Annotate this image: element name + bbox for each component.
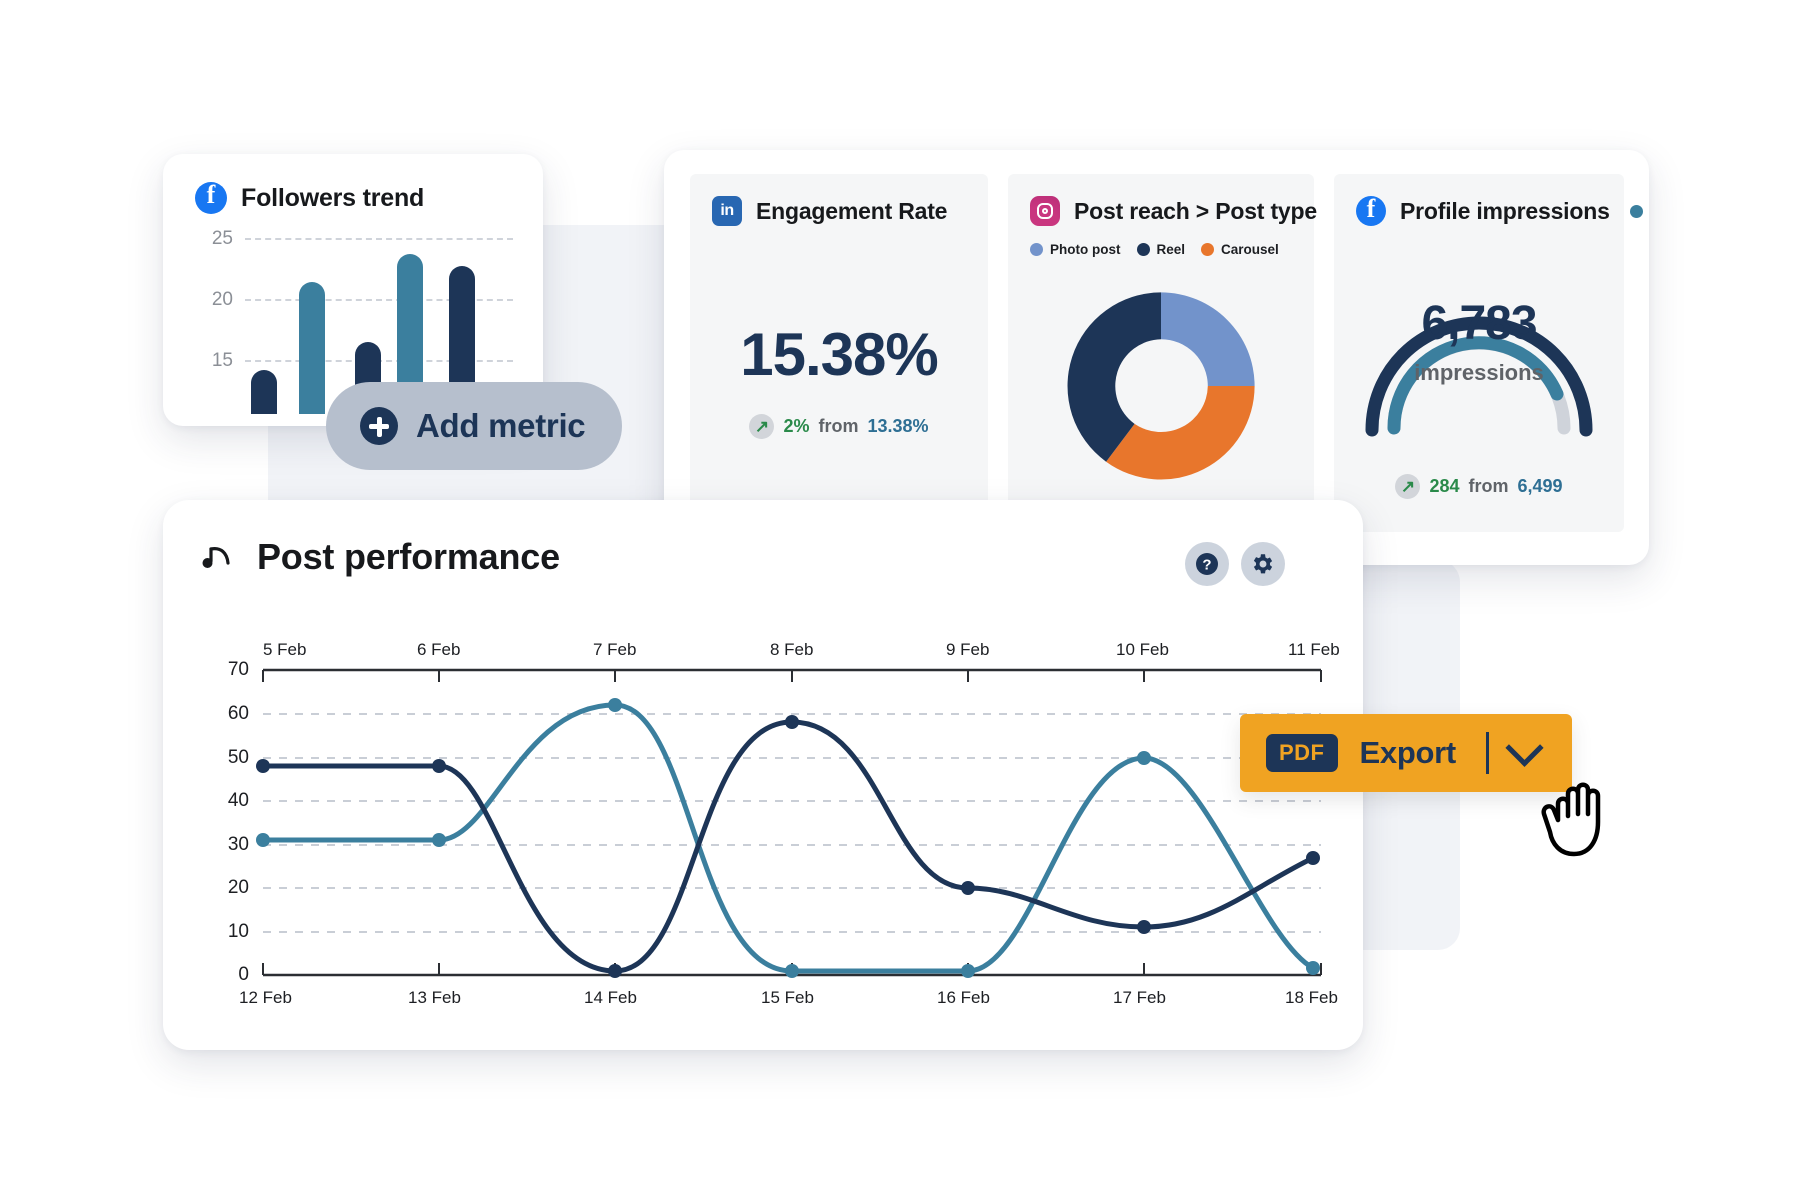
add-metric-label: Add metric (416, 407, 585, 445)
legend-label: Carousel (1221, 242, 1279, 257)
instagram-icon (1030, 196, 1060, 226)
followers-ytick-20: 20 (212, 289, 233, 311)
x-tick-bottom: 12 Feb (239, 988, 292, 1008)
x-tick-top: 5 Feb (263, 640, 306, 660)
x-tick-bottom: 16 Feb (937, 988, 990, 1008)
x-tick-bottom: 18 Feb (1285, 988, 1338, 1008)
legend-item: Photo post (1030, 242, 1121, 257)
line-chart-svg (191, 610, 1336, 1030)
settings-button[interactable] (1241, 542, 1285, 586)
impressions-delta-from: from (1469, 476, 1509, 497)
post-reach-tile: Post reach > Post type Photo post Reel C… (1008, 174, 1314, 532)
legend-label: Reel (1157, 242, 1186, 257)
followers-card-title: Followers trend (241, 184, 424, 213)
post-reach-title: Post reach > Post type (1074, 198, 1317, 225)
svg-text:?: ? (1202, 557, 1211, 574)
y-tick: 20 (191, 877, 249, 899)
profile-impressions-tile: Profile impressions 6,783 impressions 28… (1334, 174, 1624, 532)
engagement-title: Engagement Rate (756, 198, 947, 225)
post-performance-card: Post performance ? (163, 500, 1363, 1050)
note-icon (199, 539, 235, 575)
legend-item: Reel (1137, 242, 1186, 257)
gridline (245, 238, 513, 240)
x-tick-bottom: 14 Feb (584, 988, 637, 1008)
facebook-icon (1356, 196, 1386, 226)
engagement-value: 15.38% (690, 320, 988, 389)
y-tick: 60 (191, 703, 249, 725)
bar (299, 282, 325, 414)
post-performance-title: Post performance (257, 536, 560, 578)
followers-ytick-25: 25 (212, 228, 233, 250)
y-tick: 30 (191, 834, 249, 856)
export-button[interactable]: PDF Export (1240, 714, 1572, 792)
impressions-header: Profile impressions (1356, 196, 1643, 226)
post-reach-legend: Photo post Reel Carousel (1030, 242, 1279, 257)
engagement-delta: 2% from 13.38% (690, 414, 988, 439)
post-performance-header: Post performance (199, 536, 560, 578)
x-tick-top: 9 Feb (946, 640, 989, 660)
dashboard-stage: Followers trend 25 20 15 Add metric (0, 0, 1800, 1200)
y-tick: 40 (191, 790, 249, 812)
x-tick-top: 6 Feb (417, 640, 460, 660)
legend-swatch (1201, 243, 1214, 256)
followers-y-axis: 25 20 15 (193, 238, 233, 414)
followers-card-header: Followers trend (195, 182, 424, 214)
impressions-gauge-chart (1354, 252, 1604, 452)
y-tick: 0 (191, 964, 249, 986)
legend-swatch (1137, 243, 1150, 256)
y-tick: 50 (191, 747, 249, 769)
x-tick-top: 8 Feb (770, 640, 813, 660)
engagement-delta-from: from (818, 416, 858, 437)
impressions-unit: impressions (1334, 360, 1624, 386)
impressions-title: Profile impressions (1400, 198, 1610, 225)
bar (251, 370, 277, 414)
impressions-delta: 284 from 6,499 (1334, 474, 1624, 499)
x-tick-top: 11 Feb (1288, 640, 1340, 660)
trend-up-icon (749, 414, 774, 439)
legend-label: Photo post (1050, 242, 1121, 257)
post-reach-header: Post reach > Post type (1030, 196, 1317, 226)
post-reach-donut-chart (1057, 282, 1265, 490)
x-tick-bottom: 17 Feb (1113, 988, 1166, 1008)
gear-icon (1250, 551, 1276, 577)
engagement-delta-value: 2% (783, 416, 809, 437)
x-tick-top: 7 Feb (593, 640, 636, 660)
facebook-icon (195, 182, 227, 214)
engagement-delta-prev: 13.38% (867, 416, 928, 437)
impressions-value: 6,783 (1334, 296, 1624, 351)
legend-swatch (1030, 243, 1043, 256)
help-button[interactable]: ? (1185, 542, 1229, 586)
add-metric-button[interactable]: Add metric (326, 382, 622, 470)
impressions-delta-value: 284 (1429, 476, 1459, 497)
followers-ytick-15: 15 (212, 350, 233, 372)
divider (1486, 732, 1489, 774)
x-tick-bottom: 13 Feb (408, 988, 461, 1008)
engagement-header: in Engagement Rate (712, 196, 947, 226)
trend-up-icon (1395, 474, 1420, 499)
plus-circle-icon (360, 407, 398, 445)
legend-item: Carousel (1201, 242, 1279, 257)
chevron-down-icon[interactable] (1505, 728, 1543, 766)
y-tick: 70 (191, 659, 249, 681)
engagement-rate-tile: in Engagement Rate 15.38% 2% from 13.38% (690, 174, 988, 532)
question-mark-icon: ? (1195, 552, 1219, 576)
status-dot (1630, 205, 1643, 218)
impressions-delta-prev: 6,499 (1518, 476, 1563, 497)
x-tick-top: 10 Feb (1116, 640, 1169, 660)
linkedin-icon: in (712, 196, 742, 226)
cursor-hand-icon (1538, 770, 1638, 860)
y-tick: 10 (191, 921, 249, 943)
x-tick-bottom: 15 Feb (761, 988, 814, 1008)
post-performance-chart: 70 60 50 40 30 20 10 0 5 Feb 6 Feb 7 Feb… (191, 610, 1336, 1030)
export-label: Export (1360, 735, 1456, 771)
pdf-badge: PDF (1266, 734, 1338, 772)
